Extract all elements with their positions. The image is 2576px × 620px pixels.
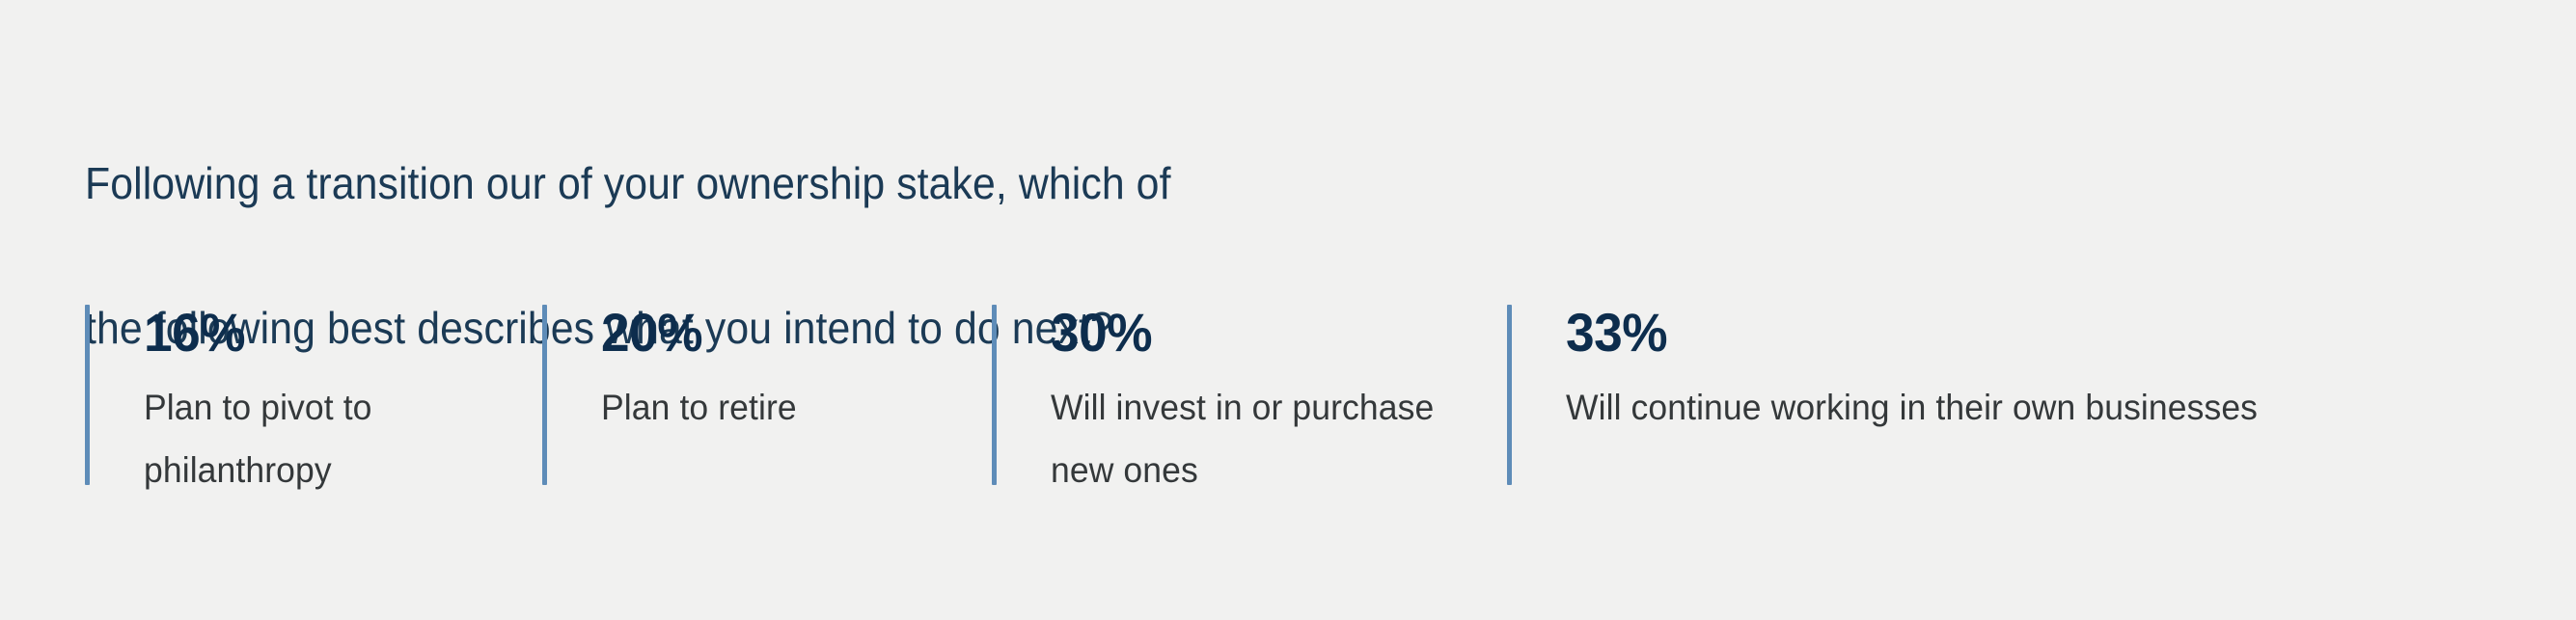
stat-block: 16% Plan to pivot to philanthropy [85, 305, 542, 501]
stat-value: 16% [144, 305, 522, 361]
stat-label: Plan to retire [601, 376, 976, 439]
stat-value: 30% [1051, 305, 1484, 361]
infographic-panel: Following a transition our of your owner… [0, 0, 2576, 620]
stat-body: 33% Will continue working in their own b… [1512, 305, 2068, 485]
stat-body: 16% Plan to pivot to philanthropy [90, 305, 542, 501]
stats-row: 16% Plan to pivot to philanthropy 20% Pl… [85, 305, 2047, 501]
stat-body: 30% Will invest in or purchase new ones [997, 305, 1507, 501]
stat-label: Will continue working in their own busin… [1566, 376, 2047, 439]
stat-block: 30% Will invest in or purchase new ones [992, 305, 1507, 501]
stat-value: 33% [1566, 305, 2042, 361]
stat-body: 20% Plan to retire [547, 305, 992, 485]
stat-block: 20% Plan to retire [542, 305, 992, 485]
question-line-1: Following a transition our of your owner… [85, 148, 1610, 220]
stat-label: Plan to pivot to philanthropy [144, 376, 450, 501]
stat-label: Will invest in or purchase new ones [1051, 376, 1439, 501]
stat-block: 33% Will continue working in their own b… [1507, 305, 2047, 485]
stat-value: 20% [601, 305, 973, 361]
